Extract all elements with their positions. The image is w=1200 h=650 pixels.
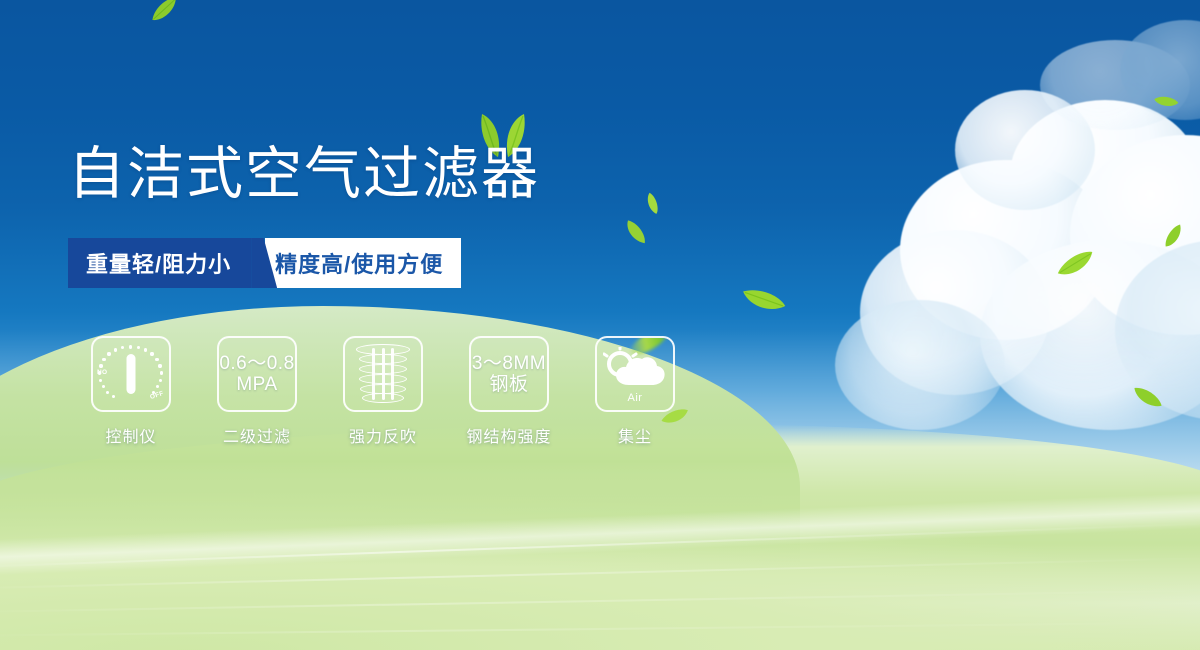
subtitle-left: 重量轻/阻力小 [68, 238, 251, 288]
feature-label: 控制仪 [105, 423, 156, 447]
cloud-air-icon: Air [603, 345, 667, 403]
feature-item-controller[interactable]: NO OFF 控制仪 [68, 336, 194, 447]
dial-gauge-icon: NO OFF [98, 343, 164, 405]
feature-item-blowback[interactable]: 强力反吹 [320, 336, 446, 447]
pressure-line-2: MPA [219, 374, 294, 395]
feature-icon-box [343, 336, 423, 412]
air-label: Air [603, 392, 667, 404]
pressure-value-icon: 0.6～0.8 MPA [219, 353, 294, 396]
page-title: 自洁式空气过滤器 [68, 146, 540, 203]
feature-icon-box: NO OFF [91, 336, 171, 412]
feature-icon-box: 0.6～0.8 MPA [217, 336, 297, 412]
feature-label: 钢结构强度 [466, 423, 551, 447]
steel-line-1: 3～8MM [472, 353, 546, 374]
feature-item-dust[interactable]: Air 集尘 [572, 336, 698, 447]
dial-label-no: NO [97, 369, 107, 376]
pressure-line-1: 0.6～0.8 [219, 353, 294, 374]
feature-icon-box: Air [595, 336, 675, 412]
feature-item-steel[interactable]: 3～8MM 钢板 钢结构强度 [446, 336, 572, 447]
feature-label: 强力反吹 [349, 423, 417, 447]
steel-plate-icon: 3～8MM 钢板 [472, 353, 546, 396]
feature-label: 集尘 [618, 423, 652, 447]
subtitle-bar: 重量轻/阻力小 精度高/使用方便 [68, 238, 461, 288]
dial-needle [127, 354, 136, 394]
banner-content: 自洁式空气过滤器 重量轻/阻力小 精度高/使用方便 [0, 0, 1200, 650]
feature-item-pressure[interactable]: 0.6～0.8 MPA 二级过滤 [194, 336, 320, 447]
subtitle-right: 精度高/使用方便 [265, 238, 461, 288]
filter-stack-icon [355, 344, 411, 404]
product-banner: 自洁式空气过滤器 重量轻/阻力小 精度高/使用方便 [0, 0, 1200, 650]
feature-icon-box: 3～8MM 钢板 [469, 336, 549, 412]
steel-line-2: 钢板 [472, 374, 546, 395]
feature-list: NO OFF 控制仪 0.6～0.8 MPA 二级过滤 [68, 336, 698, 447]
feature-label: 二级过滤 [223, 423, 291, 447]
